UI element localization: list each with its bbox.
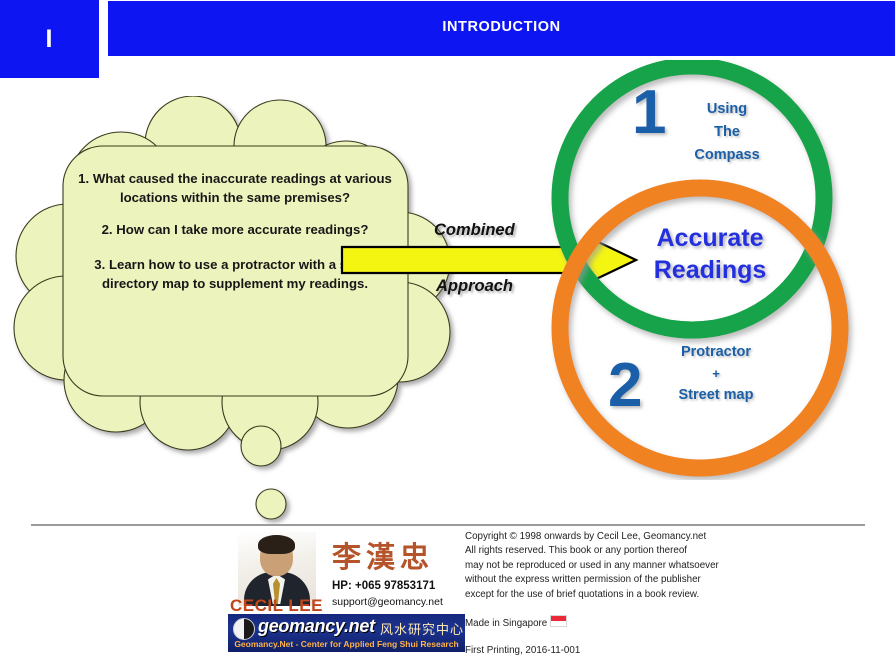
chapter-number-box: I <box>0 0 99 78</box>
venn-center-line2: Readings <box>654 256 767 284</box>
geomancy-banner-word: geomancy.net <box>258 616 375 637</box>
venn-caption-2-line1: Protractor <box>681 344 751 360</box>
venn-diagram: 1 Using The Compass Accurate Readings 2 … <box>520 60 895 480</box>
header-banner: INTRODUCTION <box>108 1 895 56</box>
author-block: CECIL LEE 李漢忠 HP: +065 97853171 support@… <box>228 530 468 645</box>
venn-number-2: 2 <box>608 355 642 417</box>
author-name-en: CECIL LEE <box>230 596 326 616</box>
slide-canvas: I INTRODUCTION <box>0 0 895 672</box>
copyright-line-5: except for the use of brief quotations i… <box>465 588 795 602</box>
geomancy-banner-cn: 风水研究中心 <box>380 619 464 638</box>
copyright-line-3: may not be reproduced or used in any man… <box>465 559 795 573</box>
singapore-flag-icon <box>550 615 567 627</box>
venn-caption-2-line2: Street map <box>679 387 754 403</box>
copyright-line-2: All rights reserved. This book or any po… <box>465 544 795 558</box>
chapter-number: I <box>46 25 54 54</box>
venn-caption-2-plus: + <box>656 364 776 385</box>
copyright-block: Copyright © 1998 onwards by Cecil Lee, G… <box>465 530 795 659</box>
venn-caption-1-line2: The <box>714 124 740 140</box>
arrow-label-top: Combined <box>434 221 515 240</box>
author-name-cn: 李漢忠 <box>332 534 434 576</box>
thought-cloud: 1. What caused the inaccurate readings a… <box>8 96 478 526</box>
venn-caption-2: Protractor + Street map <box>656 341 776 407</box>
geomancy-banner[interactable]: geomancy.net 风水研究中心 Geomancy.Net - Cente… <box>228 614 465 652</box>
geomancy-banner-tagline: Geomancy.Net - Center for Applied Feng S… <box>228 639 465 649</box>
copyright-paragraph: Copyright © 1998 onwards by Cecil Lee, G… <box>465 530 795 602</box>
copyright-line-1: Copyright © 1998 onwards by Cecil Lee, G… <box>465 530 795 544</box>
made-in-line: Made in Singapore <box>465 615 795 631</box>
venn-number-1: 1 <box>632 82 666 144</box>
author-phone: HP: +065 97853171 <box>332 580 435 592</box>
venn-caption-1-line3: Compass <box>694 147 759 163</box>
arrow-label-bottom: Approach <box>436 277 513 296</box>
venn-caption-1-line1: Using <box>707 101 747 117</box>
cloud-item-1: 1. What caused the inaccurate readings a… <box>70 170 400 207</box>
author-photo <box>238 532 316 606</box>
printing-line: First Printing, 2016-11-001 <box>465 644 795 658</box>
made-in-text: Made in Singapore <box>465 618 547 629</box>
author-photo-hair <box>258 535 295 554</box>
copyright-line-4: without the express written permission o… <box>465 573 795 587</box>
venn-center-line1: Accurate <box>657 224 764 252</box>
thought-cloud-shape <box>8 96 478 526</box>
yin-yang-icon <box>233 618 255 640</box>
author-email[interactable]: support@geomancy.net <box>332 596 443 608</box>
footer-divider <box>31 524 865 526</box>
page-title: INTRODUCTION <box>108 19 895 35</box>
venn-center-label: Accurate Readings <box>615 223 805 287</box>
venn-caption-1: Using The Compass <box>672 98 782 167</box>
